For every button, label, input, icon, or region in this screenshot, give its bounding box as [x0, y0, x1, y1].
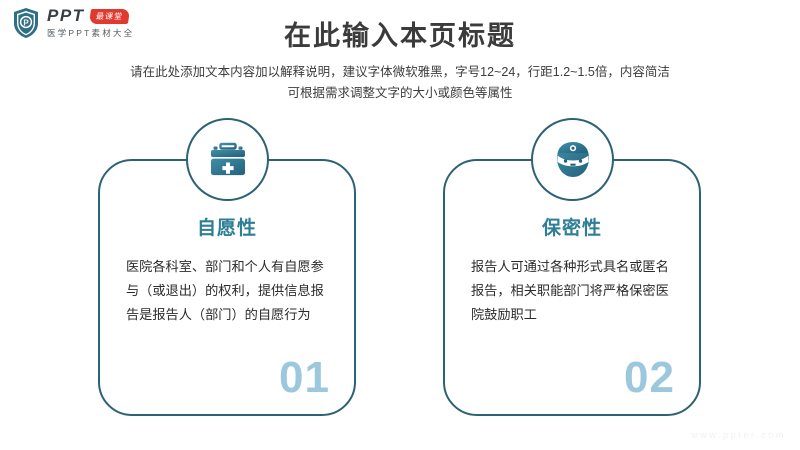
card-heading: 自愿性 [122, 213, 332, 240]
card-number: 01 [279, 356, 330, 400]
page-subtitle: 请在此处添加文本内容加以解释说明，建议字体微软雅黑，字号12~24，行距1.2~… [0, 62, 800, 104]
card-heading: 保密性 [467, 213, 677, 240]
card-number: 02 [624, 356, 675, 400]
site-watermark: www.ppter.com [691, 430, 786, 440]
first-aid-kit-icon [208, 141, 248, 179]
subtitle-line-2: 可根据需求调整文字的大小或颜色等属性 [0, 83, 800, 104]
page-title: 在此输入本页标题 [0, 14, 800, 53]
slide-canvas: P PPT 最课堂 医学PPT素材大全 在此输入本页标题 请在此处添加文本内容加… [0, 0, 800, 450]
card-badge-circle-1[interactable] [186, 118, 269, 201]
card-badge-circle-2[interactable] [531, 118, 614, 201]
card-body-text: 医院各科室、部门和个人有自愿参与（或退出）的权利，提供信息报告是报告人（部门）的… [122, 255, 332, 327]
doctor-face-icon [552, 140, 594, 180]
card-body-text: 报告人可通过各种形式具名或匿名报告，相关职能部门将严格保密医院鼓励职工 [467, 255, 677, 327]
subtitle-line-1: 请在此处添加文本内容加以解释说明，建议字体微软雅黑，字号12~24，行距1.2~… [0, 62, 800, 83]
